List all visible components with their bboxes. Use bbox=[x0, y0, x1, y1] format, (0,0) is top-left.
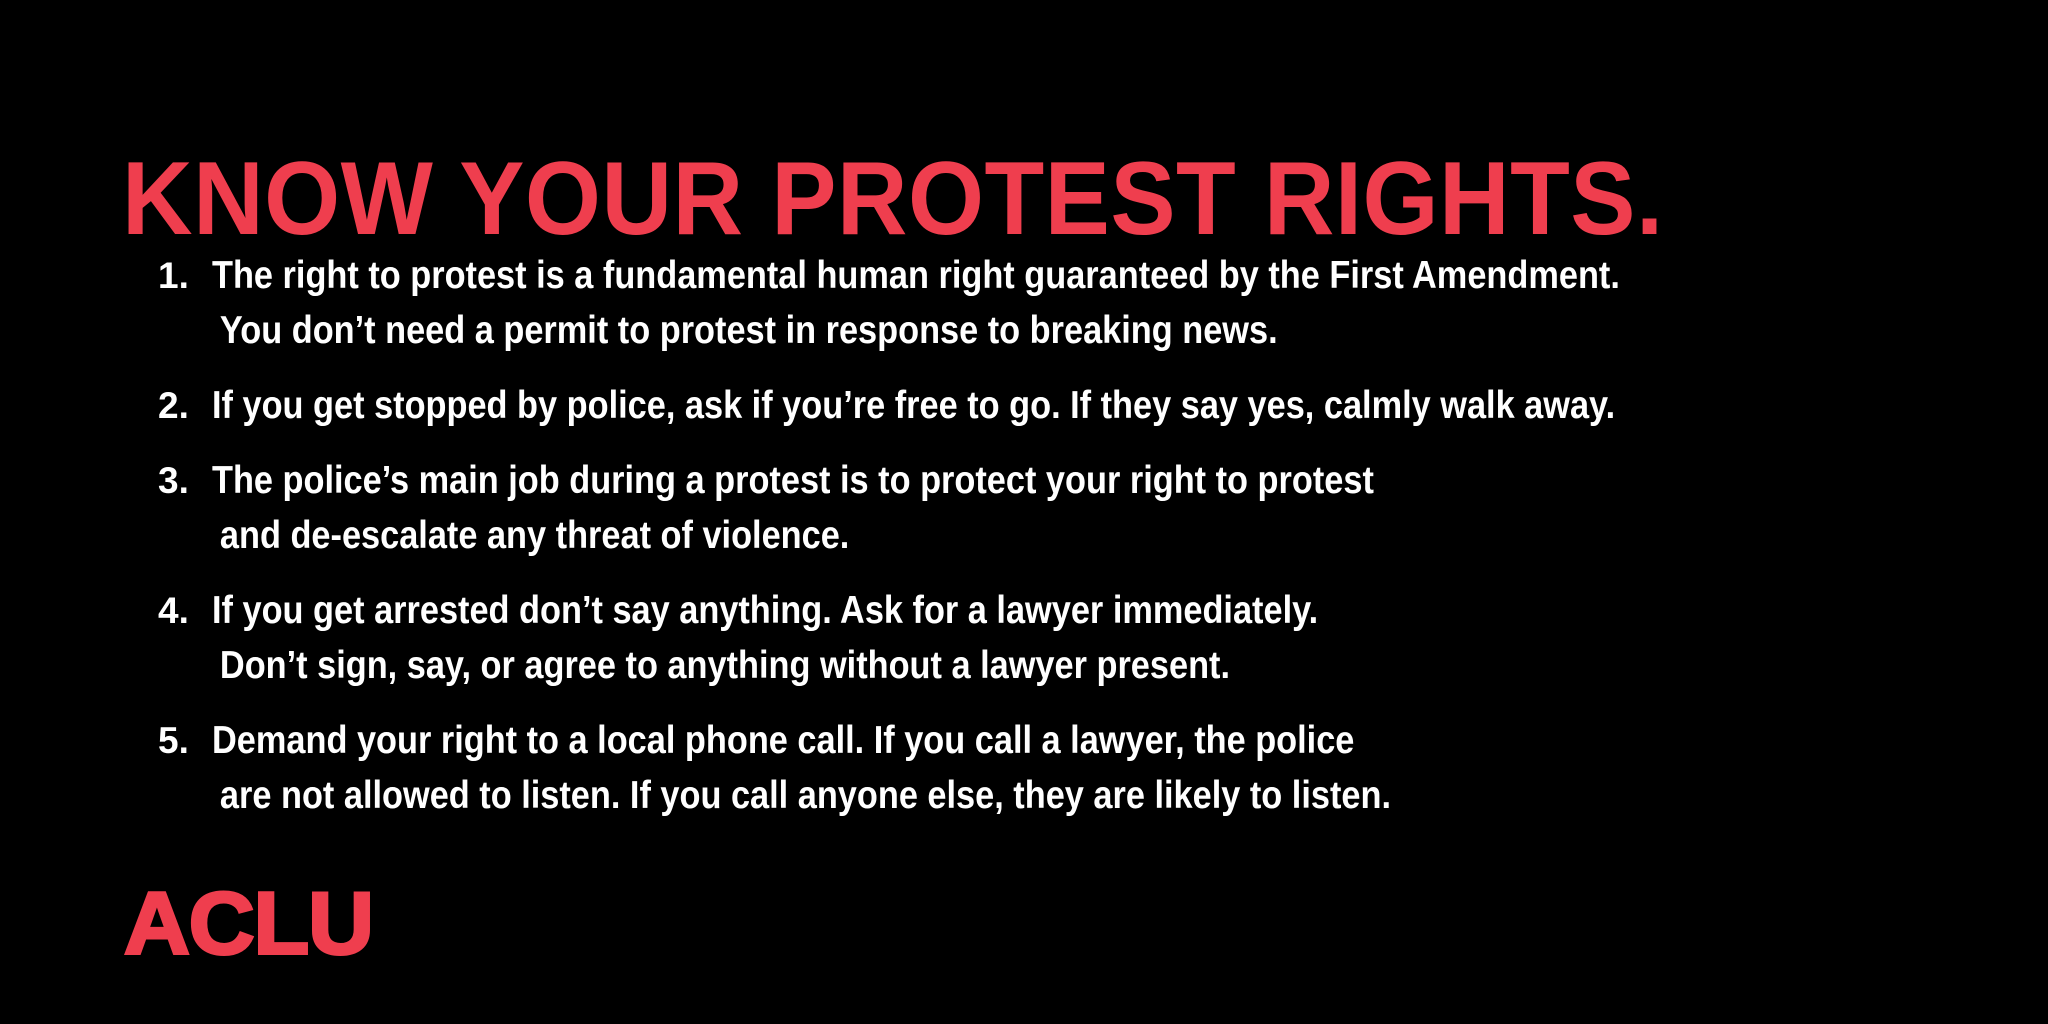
list-item-line: Demand your right to a local phone call.… bbox=[212, 713, 1706, 768]
poster-canvas: KNOW YOUR PROTEST RIGHTS. 1. The right t… bbox=[0, 0, 2048, 1024]
page-title: KNOW YOUR PROTEST RIGHTS. bbox=[122, 147, 1664, 251]
list-item-line: You don’t need a permit to protest in re… bbox=[212, 303, 1706, 358]
list-item: 5. Demand your right to a local phone ca… bbox=[150, 713, 1910, 823]
list-item-line: The right to protest is a fundamental hu… bbox=[212, 248, 1706, 303]
list-item-number: 1. bbox=[150, 248, 212, 303]
aclu-logo: ACLU bbox=[124, 880, 373, 968]
list-item-number: 2. bbox=[150, 378, 212, 433]
list-item-text: The right to protest is a fundamental hu… bbox=[212, 248, 1910, 358]
list-item-text: If you get arrested don’t say anything. … bbox=[212, 583, 1910, 693]
list-item-text: The police’s main job during a protest i… bbox=[212, 453, 1910, 563]
list-item-number: 3. bbox=[150, 453, 212, 508]
list-item-line: If you get arrested don’t say anything. … bbox=[212, 583, 1706, 638]
list-item: 1. The right to protest is a fundamental… bbox=[150, 248, 1910, 358]
list-item: 4. If you get arrested don’t say anythin… bbox=[150, 583, 1910, 693]
list-item-line: If you get stopped by police, ask if you… bbox=[212, 378, 1706, 433]
list-item-number: 5. bbox=[150, 713, 212, 768]
list-item-text: If you get stopped by police, ask if you… bbox=[212, 378, 1910, 433]
list-item-text: Demand your right to a local phone call.… bbox=[212, 713, 1910, 823]
list-item-line: Don’t sign, say, or agree to anything wi… bbox=[212, 638, 1706, 693]
list-item: 2. If you get stopped by police, ask if … bbox=[150, 378, 1910, 433]
list-item-line: and de-escalate any threat of violence. bbox=[212, 508, 1706, 563]
list-item-number: 4. bbox=[150, 583, 212, 638]
list-item-line: are not allowed to listen. If you call a… bbox=[212, 768, 1706, 823]
list-item: 3. The police’s main job during a protes… bbox=[150, 453, 1910, 563]
rights-list: 1. The right to protest is a fundamental… bbox=[150, 248, 1910, 843]
list-item-line: The police’s main job during a protest i… bbox=[212, 453, 1706, 508]
